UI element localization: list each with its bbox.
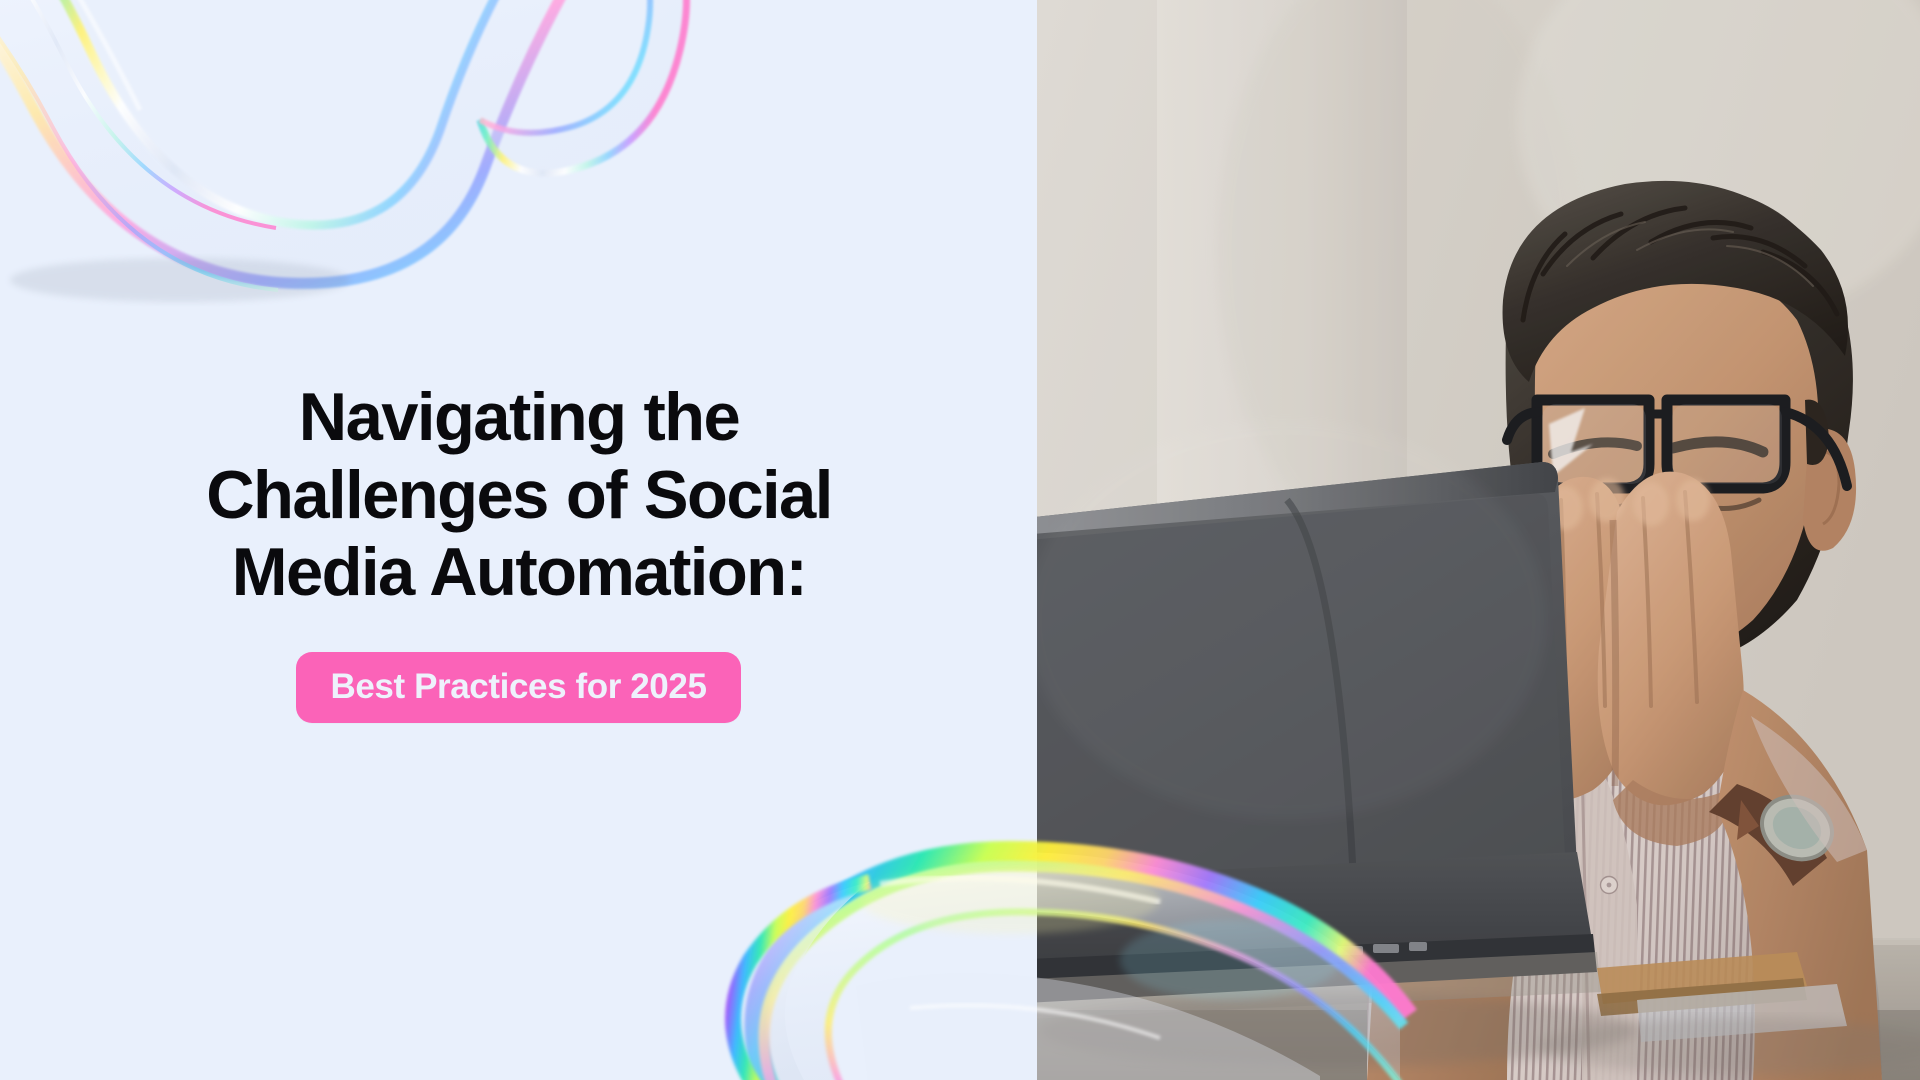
hero-banner: Navigating the Challenges of Social Medi… — [0, 0, 1920, 1080]
frustrated-man-at-laptop-photo — [1037, 0, 1920, 1080]
subtitle-badge: Best Practices for 2025 — [296, 652, 740, 723]
headline-line-2: Challenges of Social — [95, 457, 942, 535]
page-title: Navigating the Challenges of Social Medi… — [89, 379, 949, 723]
headline-line-3: Media Automation: — [95, 534, 942, 612]
hero-text-column: Navigating the Challenges of Social Medi… — [0, 0, 1037, 1080]
headline: Navigating the Challenges of Social Medi… — [95, 379, 942, 612]
headline-line-1: Navigating the — [95, 379, 942, 457]
